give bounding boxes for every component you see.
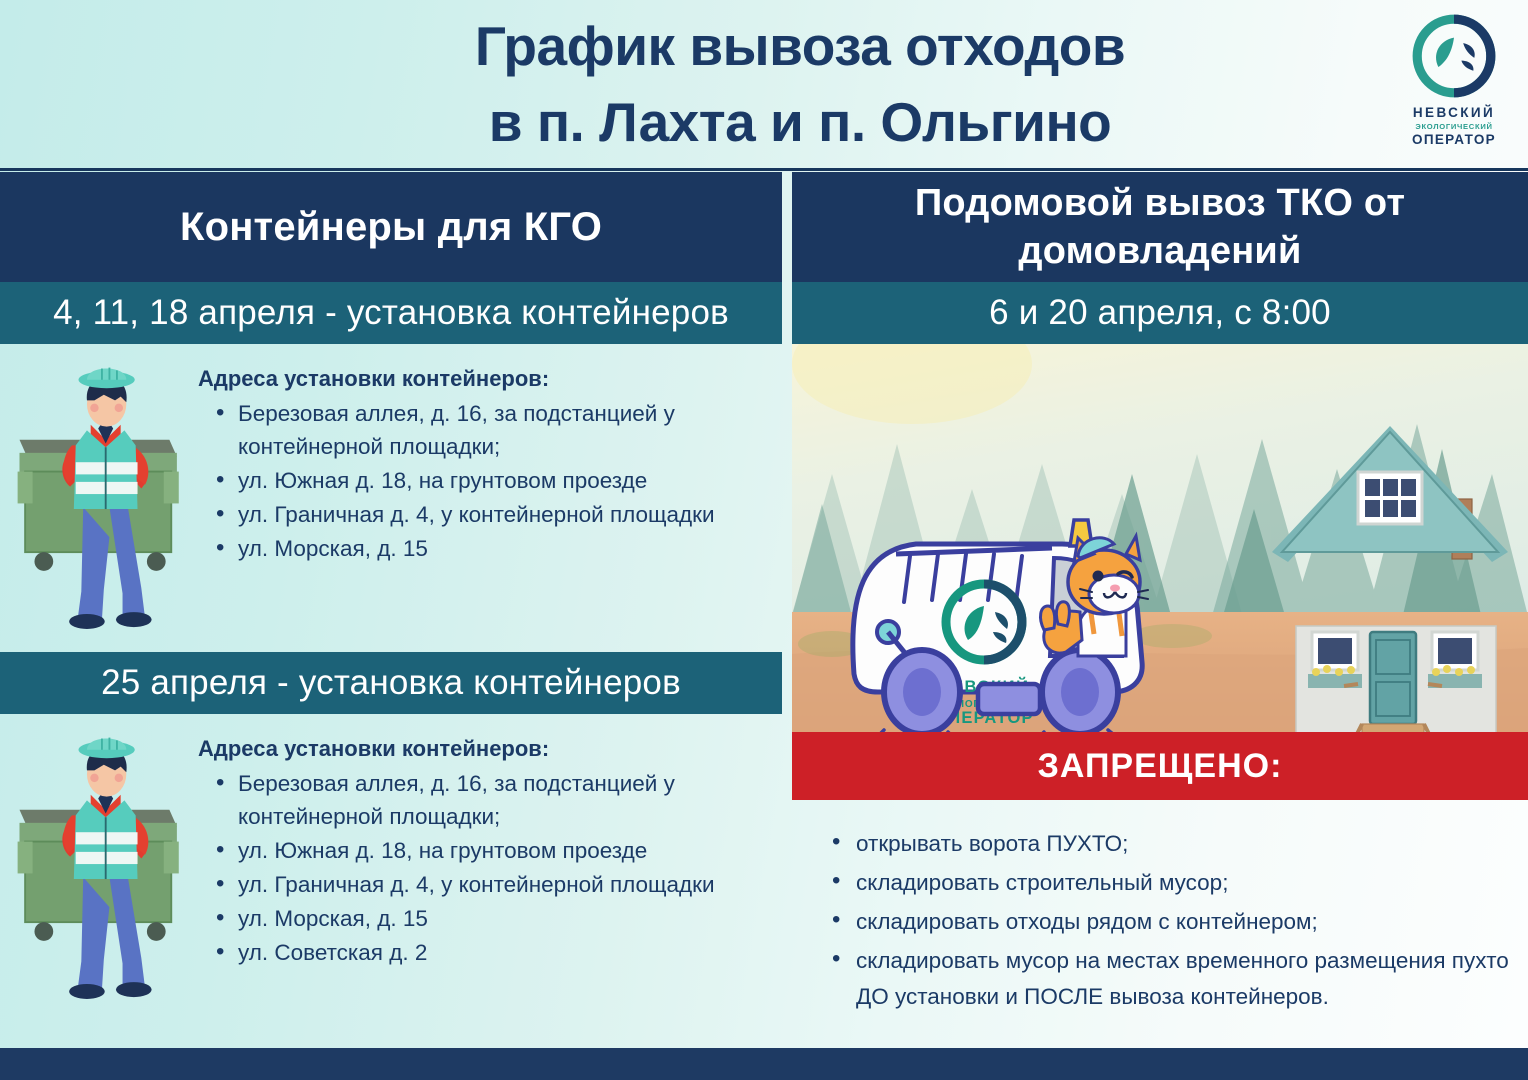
worker-with-dumpster-illustration-2 [0,714,190,1011]
right-column: Подомовой вывоз ТКО от домовладений 6 и … [792,172,1528,1018]
title-line-1: График вывоза отходов [210,8,1390,84]
list-item: складировать строительный мусор; [814,865,1512,901]
left-column-heading: Контейнеры для КГО [0,172,782,282]
list-item: ул. Морская, д. 15 [198,532,770,565]
left-column: Контейнеры для КГО 4, 11, 18 апреля - ус… [0,172,782,1054]
left-section-1-addresses: Адреса установки контейнеров: Березовая … [190,344,782,566]
left-section-2-body: Адреса установки контейнеров: Березовая … [0,714,782,1054]
right-column-date: 6 и 20 апреля, с 8:00 [792,282,1528,344]
left-section-1-body: Адреса установки контейнеров: Березовая … [0,344,782,652]
address-list-2: Березовая аллея, д. 16, за подстанцией у… [198,767,770,969]
worker-with-dumpster-illustration [0,344,190,641]
left-section-2-date: 25 апреля - установка контейнеров [0,652,782,714]
prohibited-list-wrapper: открывать ворота ПУХТО; складировать стр… [792,800,1528,1015]
logo-text-line2: ЭКОЛОГИЧЕСКИЙ [1402,121,1506,132]
worker-illustration-svg [12,354,190,636]
worker-illustration-svg-2 [12,724,190,1006]
logo-text-line3: ОПЕРАТОР [1402,132,1506,148]
list-item: складировать отходы рядом с контейнером; [814,904,1512,940]
scene-svg: НЕВСКИЙ ЭКОЛОГИЧЕСКИЙ ОПЕРАТОР [792,344,1528,732]
list-item: ул. Граничная д. 4, у контейнерной площа… [198,868,770,901]
list-item: складировать мусор на местах временного … [814,943,1512,1015]
left-section-1-date: 4, 11, 18 апреля - установка контейнеров [0,282,782,344]
page-title: График вывоза отходов в п. Лахта и п. Ол… [210,8,1390,160]
poster-root: График вывоза отходов в п. Лахта и п. Ол… [0,0,1528,1080]
leaf-circle-icon [1408,10,1500,102]
list-item: Березовая аллея, д. 16, за подстанцией у… [198,397,770,463]
neo-logo: НЕВСКИЙ ЭКОЛОГИЧЕСКИЙ ОПЕРАТОР [1402,10,1506,148]
list-item: открывать ворота ПУХТО; [814,826,1512,862]
list-item: ул. Южная д. 18, на грунтовом проезде [198,464,770,497]
address-list: Березовая аллея, д. 16, за подстанцией у… [198,397,770,565]
left-section-2-addresses: Адреса установки контейнеров: Березовая … [190,714,782,970]
list-item: ул. Южная д. 18, на грунтовом проезде [198,834,770,867]
right-column-heading: Подомовой вывоз ТКО от домовладений [792,172,1528,282]
addresses-heading-2: Адреса установки контейнеров: [198,736,770,762]
header-divider [0,168,1528,171]
poster-header: График вывоза отходов в п. Лахта и п. Ол… [0,0,1528,172]
garbage-truck-with-cat-mascot-and-house-illustration: НЕВСКИЙ ЭКОЛОГИЧЕСКИЙ ОПЕРАТОР [792,344,1528,732]
list-item: ул. Граничная д. 4, у контейнерной площа… [198,498,770,531]
footer-bar [0,1048,1528,1080]
list-item: ул. Советская д. 2 [198,936,770,969]
list-item: ул. Морская, д. 15 [198,902,770,935]
logo-text-line1: НЕВСКИЙ [1402,105,1506,121]
list-item: Березовая аллея, д. 16, за подстанцией у… [198,767,770,833]
addresses-heading: Адреса установки контейнеров: [198,366,770,392]
title-line-2: в п. Лахта и п. Ольгино [210,84,1390,160]
right-heading-line1: Подомовой вывоз ТКО от [915,179,1405,227]
prohibited-banner: ЗАПРЕЩЕНО: [792,732,1528,800]
right-heading-line2: домовладений [915,227,1405,275]
prohibited-list: открывать ворота ПУХТО; складировать стр… [814,826,1512,1015]
